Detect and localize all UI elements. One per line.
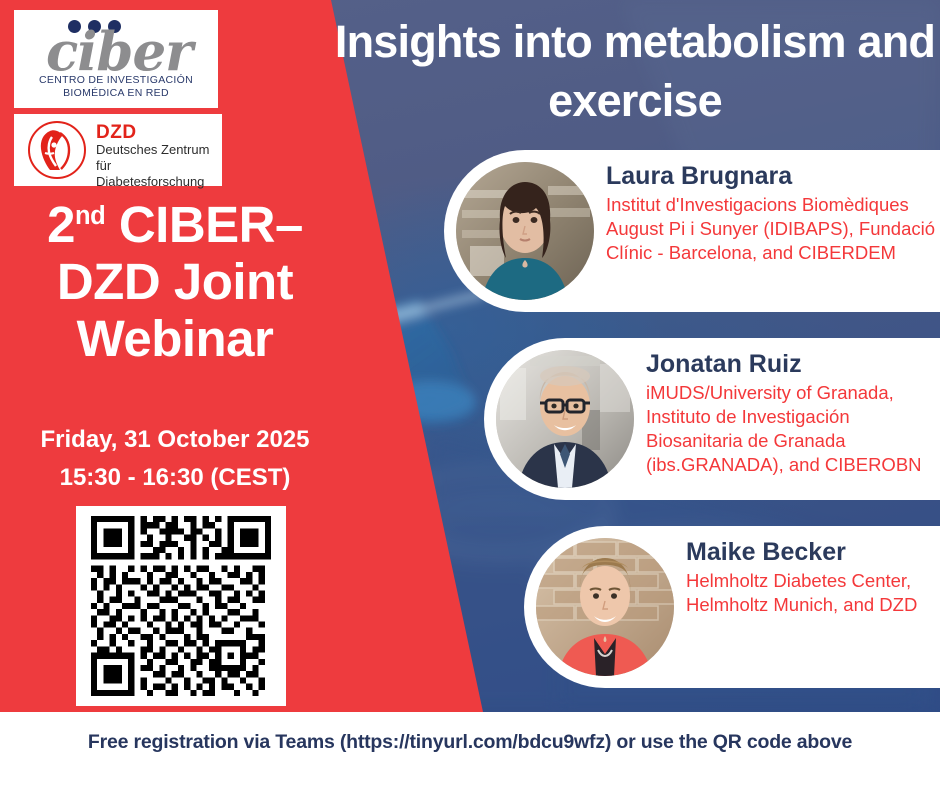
ciber-logo: ciber CENTRO DE INVESTIGACIÓN BIOMÉDICA … xyxy=(14,10,218,108)
event-title: 2nd CIBER–DZD Joint Webinar xyxy=(0,196,350,367)
dzd-subtitle-line2: für Diabetesforschung xyxy=(96,158,204,189)
speaker-name: Maike Becker xyxy=(686,536,936,568)
avatar xyxy=(536,538,674,676)
ciber-wordmark: ciber xyxy=(46,26,196,79)
qr-code-icon xyxy=(86,516,276,696)
registration-footer-text[interactable]: Free registration via Teams (https://tin… xyxy=(0,731,940,754)
speaker-card: Maike Becker Helmholtz Diabetes Center, … xyxy=(524,526,940,688)
speaker-affiliation: Institut d'Investigacions Biomèdiques Au… xyxy=(606,193,936,265)
event-time: 15:30 - 16:30 (CEST) xyxy=(0,464,350,492)
speaker-info: Jonatan Ruiz iMUDS/University of Granada… xyxy=(646,348,936,477)
dzd-logo: DZD Deutsches Zentrum für Diabetesforsch… xyxy=(14,114,222,186)
ciber-subtitle-line1: CENTRO DE INVESTIGACIÓN xyxy=(39,74,193,86)
qr-code-registration[interactable] xyxy=(76,506,286,706)
event-title-ordinal: nd xyxy=(75,202,105,230)
speaker-card: Laura Brugnara Institut d'Investigacions… xyxy=(444,150,940,312)
avatar xyxy=(456,162,594,300)
dzd-face-emblem-icon xyxy=(28,121,86,179)
page-title: Insights into metabolism and exercise xyxy=(330,12,940,130)
speaker-name: Laura Brugnara xyxy=(606,160,936,192)
avatar xyxy=(496,350,634,488)
ciber-subtitle-line2: BIOMÉDICA EN RED xyxy=(63,87,169,99)
event-title-prefix: 2 xyxy=(47,196,75,253)
speaker-affiliation: Helmholtz Diabetes Center, Helmholtz Mun… xyxy=(686,569,936,617)
speaker-info: Laura Brugnara Institut d'Investigacions… xyxy=(606,160,936,265)
webinar-poster: ciber CENTRO DE INVESTIGACIÓN BIOMÉDICA … xyxy=(0,0,940,788)
speaker-info: Maike Becker Helmholtz Diabetes Center, … xyxy=(686,536,936,617)
speaker-affiliation: iMUDS/University of Granada, Instituto d… xyxy=(646,381,936,477)
speaker-card: Jonatan Ruiz iMUDS/University of Granada… xyxy=(484,338,940,500)
dzd-subtitle-line1: Deutsches Zentrum xyxy=(96,142,209,157)
dzd-subtitle: Deutsches Zentrum für Diabetesforschung xyxy=(96,142,222,190)
ciber-subtitle: CENTRO DE INVESTIGACIÓN BIOMÉDICA EN RED xyxy=(14,74,218,100)
dzd-acronym: DZD xyxy=(96,122,137,144)
speaker-name: Jonatan Ruiz xyxy=(646,348,936,380)
event-date: Friday, 31 October 2025 xyxy=(0,426,350,454)
